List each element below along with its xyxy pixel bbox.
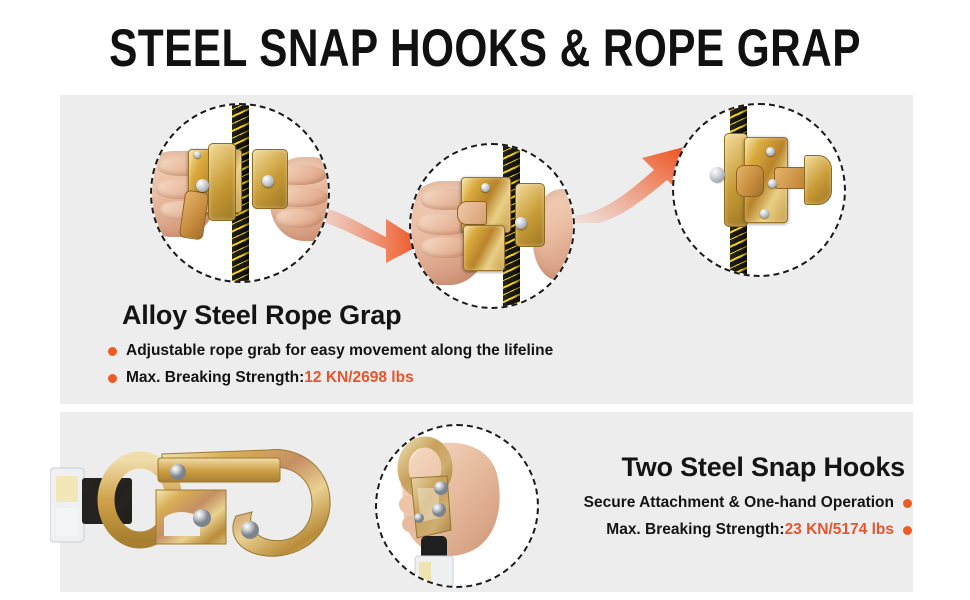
bullet-text: Max. Breaking Strength: xyxy=(126,369,304,387)
top-panel-heading: Alloy Steel Rope Grap xyxy=(122,300,401,331)
photo-rope-grab-hand-open xyxy=(150,103,330,283)
bullet-highlight: 23 KN/5174 lbs xyxy=(785,521,894,539)
photo-snap-hook-product-shot xyxy=(50,432,350,587)
bullet-item: Max. Breaking Strength: 23 KN/5174 lbs xyxy=(584,521,912,539)
bullet-item: Max. Breaking Strength: 12 KN/2698 lbs xyxy=(108,369,553,387)
photo-rope-grab-installed xyxy=(672,103,846,277)
bottom-panel-bullets: Secure Attachment & One-hand Operation M… xyxy=(584,494,912,548)
infographic-page: STEEL SNAP HOOKS & ROPE GRAP xyxy=(0,0,970,600)
bullet-text: Secure Attachment & One-hand Operation xyxy=(584,494,894,512)
bullet-dot-icon xyxy=(903,526,912,535)
page-title: STEEL SNAP HOOKS & ROPE GRAP xyxy=(97,22,873,75)
bullet-dot-icon xyxy=(903,499,912,508)
photo-snap-hook-in-hand xyxy=(375,424,539,588)
bullet-item: Secure Attachment & One-hand Operation xyxy=(584,494,912,512)
bottom-panel-heading: Two Steel Snap Hooks xyxy=(621,452,905,483)
top-panel-bullets: Adjustable rope grab for easy movement a… xyxy=(108,342,553,396)
bullet-dot-icon xyxy=(108,347,117,356)
photo-rope-grab-hand-engaged xyxy=(409,143,575,309)
bullet-item: Adjustable rope grab for easy movement a… xyxy=(108,342,553,360)
bullet-dot-icon xyxy=(108,374,117,383)
bullet-text: Adjustable rope grab for easy movement a… xyxy=(126,342,553,360)
bullet-text: Max. Breaking Strength: xyxy=(606,521,784,539)
bullet-highlight: 12 KN/2698 lbs xyxy=(304,369,413,387)
